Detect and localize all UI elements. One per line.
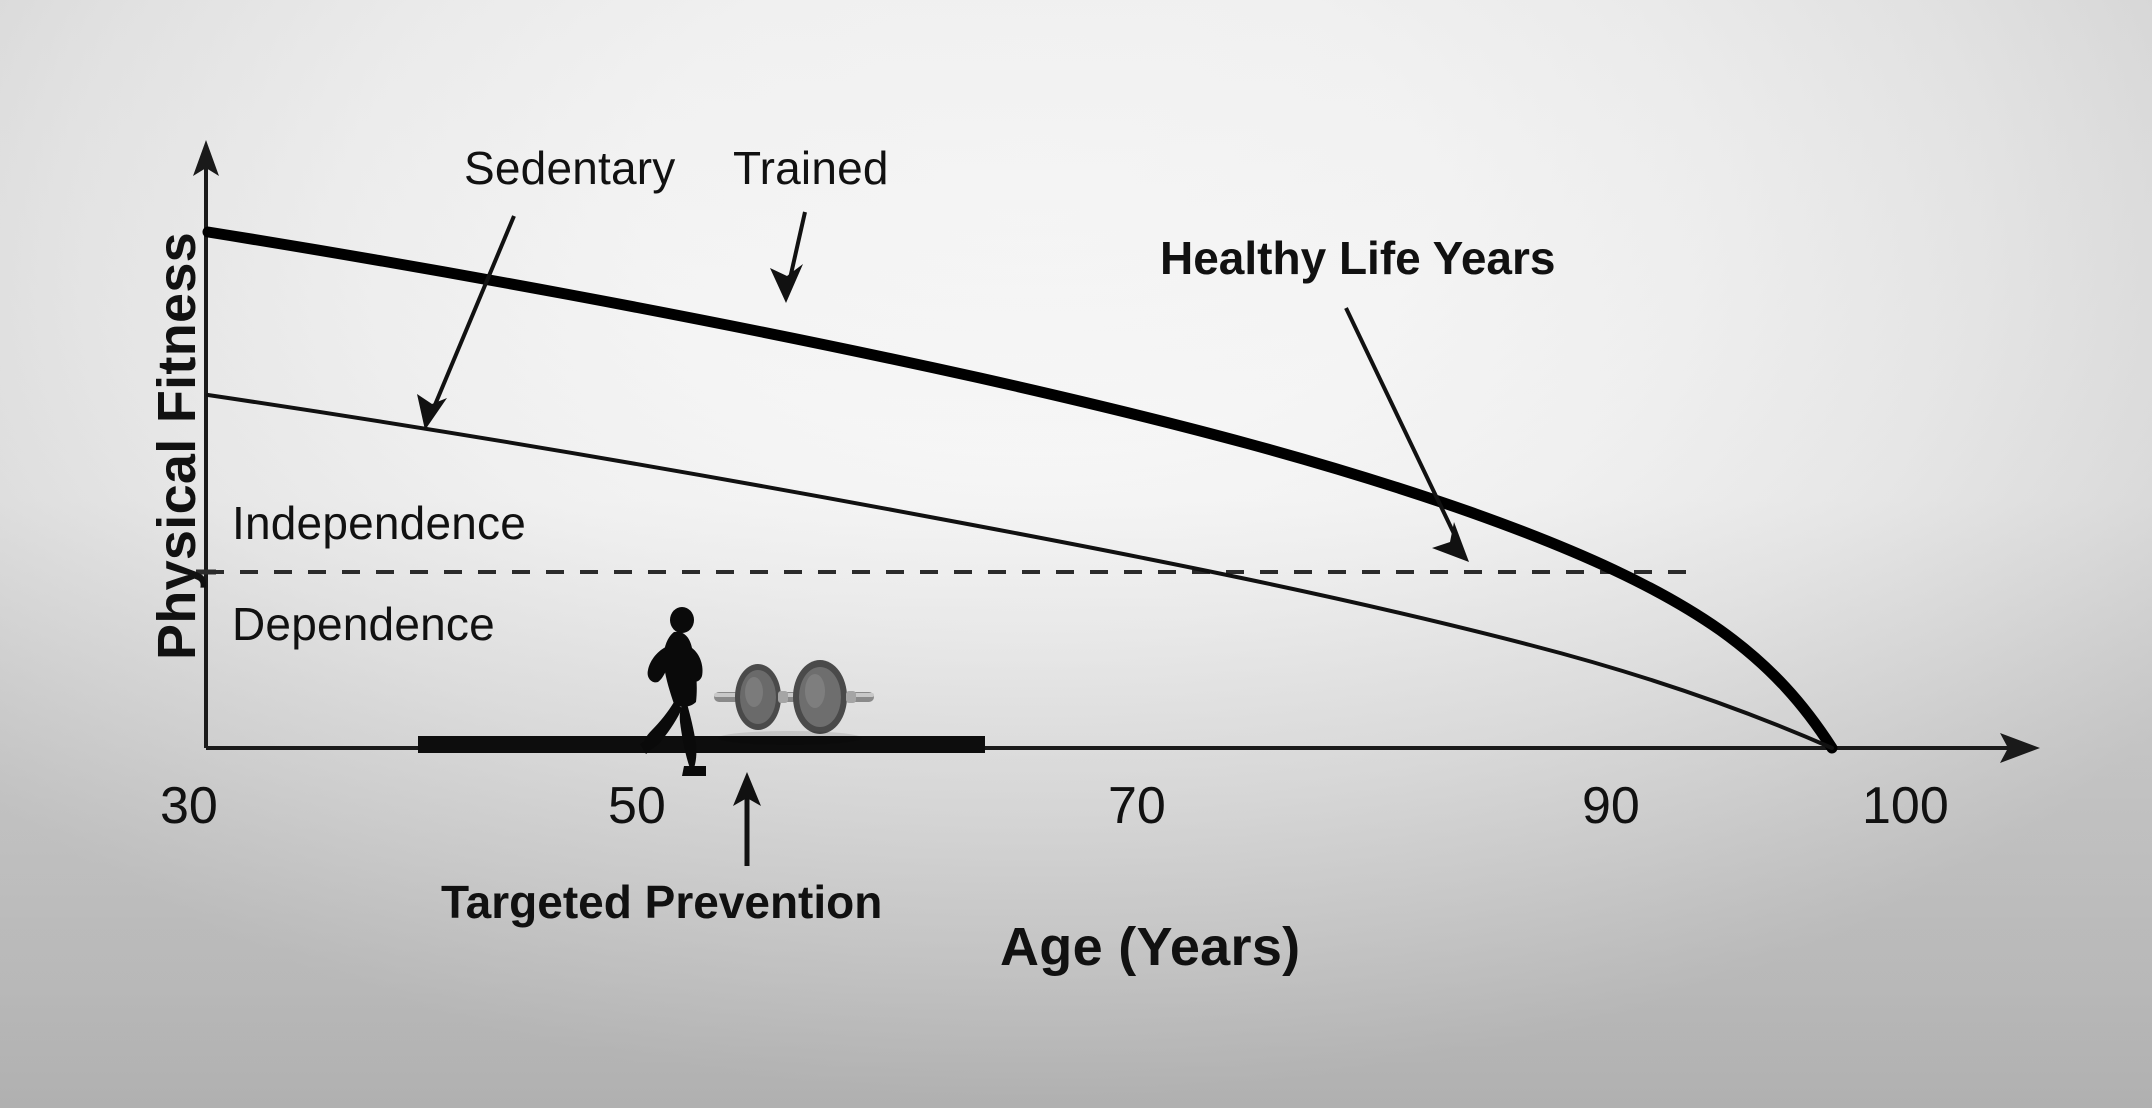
x-tick-label-90: 90 xyxy=(1582,780,1640,832)
x-tick-label-100: 100 xyxy=(1862,780,1949,832)
x-axis-title: Age (Years) xyxy=(1000,920,1300,974)
healthy-life-years-annotation-arrow-shaft xyxy=(1346,308,1457,540)
annotation-arrows xyxy=(417,212,1469,866)
y-axis-title: Physical Fitness xyxy=(150,232,204,660)
figure-canvas: Physical Fitness Age (Years) Sedentary T… xyxy=(0,0,2152,1108)
annotation-healthy-life-years: Healthy Life Years xyxy=(1160,235,1555,281)
x-tick-label-70: 70 xyxy=(1108,780,1166,832)
dumbbell-icon xyxy=(714,660,874,745)
x-tick-label-30: 30 xyxy=(160,780,218,832)
annotation-targeted-prevention: Targeted Prevention xyxy=(441,879,882,925)
trained-annotation-arrowhead xyxy=(770,264,803,303)
series-label-sedentary: Sedentary xyxy=(464,145,676,191)
threshold-label-independence: Independence xyxy=(232,500,526,546)
targeted-prevention-span-bar xyxy=(418,736,985,753)
trained-curve xyxy=(208,232,1832,748)
x-tick-label-50: 50 xyxy=(608,780,666,832)
series-label-trained: Trained xyxy=(733,145,889,191)
sedentary-annotation-arrowhead xyxy=(417,394,447,430)
threshold-label-dependence: Dependence xyxy=(232,601,495,647)
sedentary-annotation-arrow-shaft xyxy=(432,216,514,412)
